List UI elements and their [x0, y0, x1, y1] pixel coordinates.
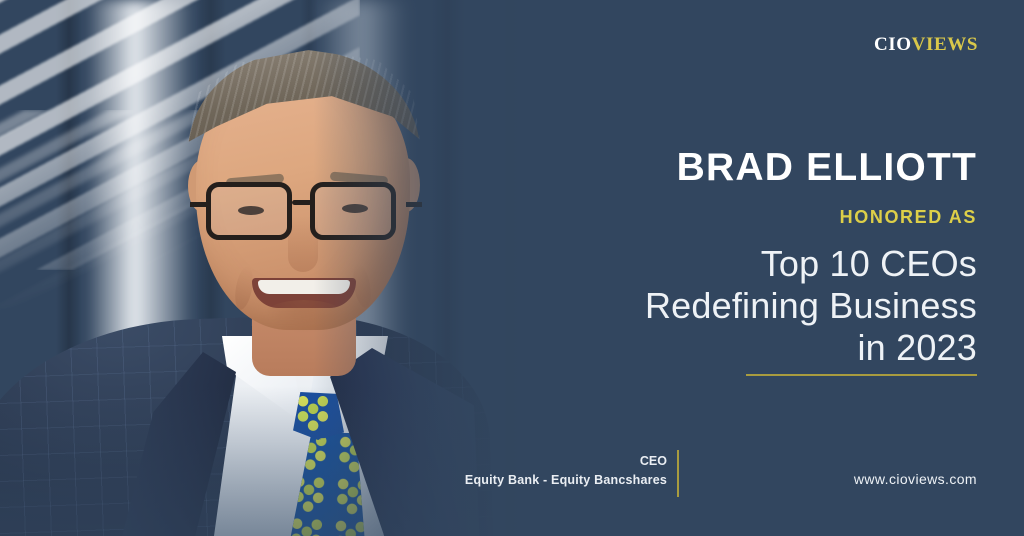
logo-text-cio: CIO: [874, 34, 912, 55]
headline-line-2: Redefining Business: [645, 285, 977, 327]
award-banner: CIOVIEWS BRAD ELLIOTT HONORED AS Top 10 …: [0, 0, 1024, 536]
website-url[interactable]: www.cioviews.com: [854, 471, 977, 487]
gold-divider-horizontal: [746, 374, 977, 376]
role-block: CEO Equity Bank - Equity Bancshares: [465, 452, 667, 490]
person-name: BRAD ELLIOTT: [677, 146, 977, 190]
award-eyebrow: HONORED AS: [840, 207, 977, 228]
logo-text-views: VIEWS: [912, 34, 978, 55]
headline-line-1: Top 10 CEOs: [645, 243, 977, 285]
role-company: Equity Bank - Equity Bancshares: [465, 471, 667, 490]
gold-divider-vertical: [677, 450, 679, 497]
role-title: CEO: [465, 452, 667, 471]
cio-views-logo[interactable]: CIOVIEWS: [874, 34, 978, 56]
award-headline: Top 10 CEOs Redefining Business in 2023: [645, 243, 977, 368]
headline-line-3: in 2023: [645, 327, 977, 369]
